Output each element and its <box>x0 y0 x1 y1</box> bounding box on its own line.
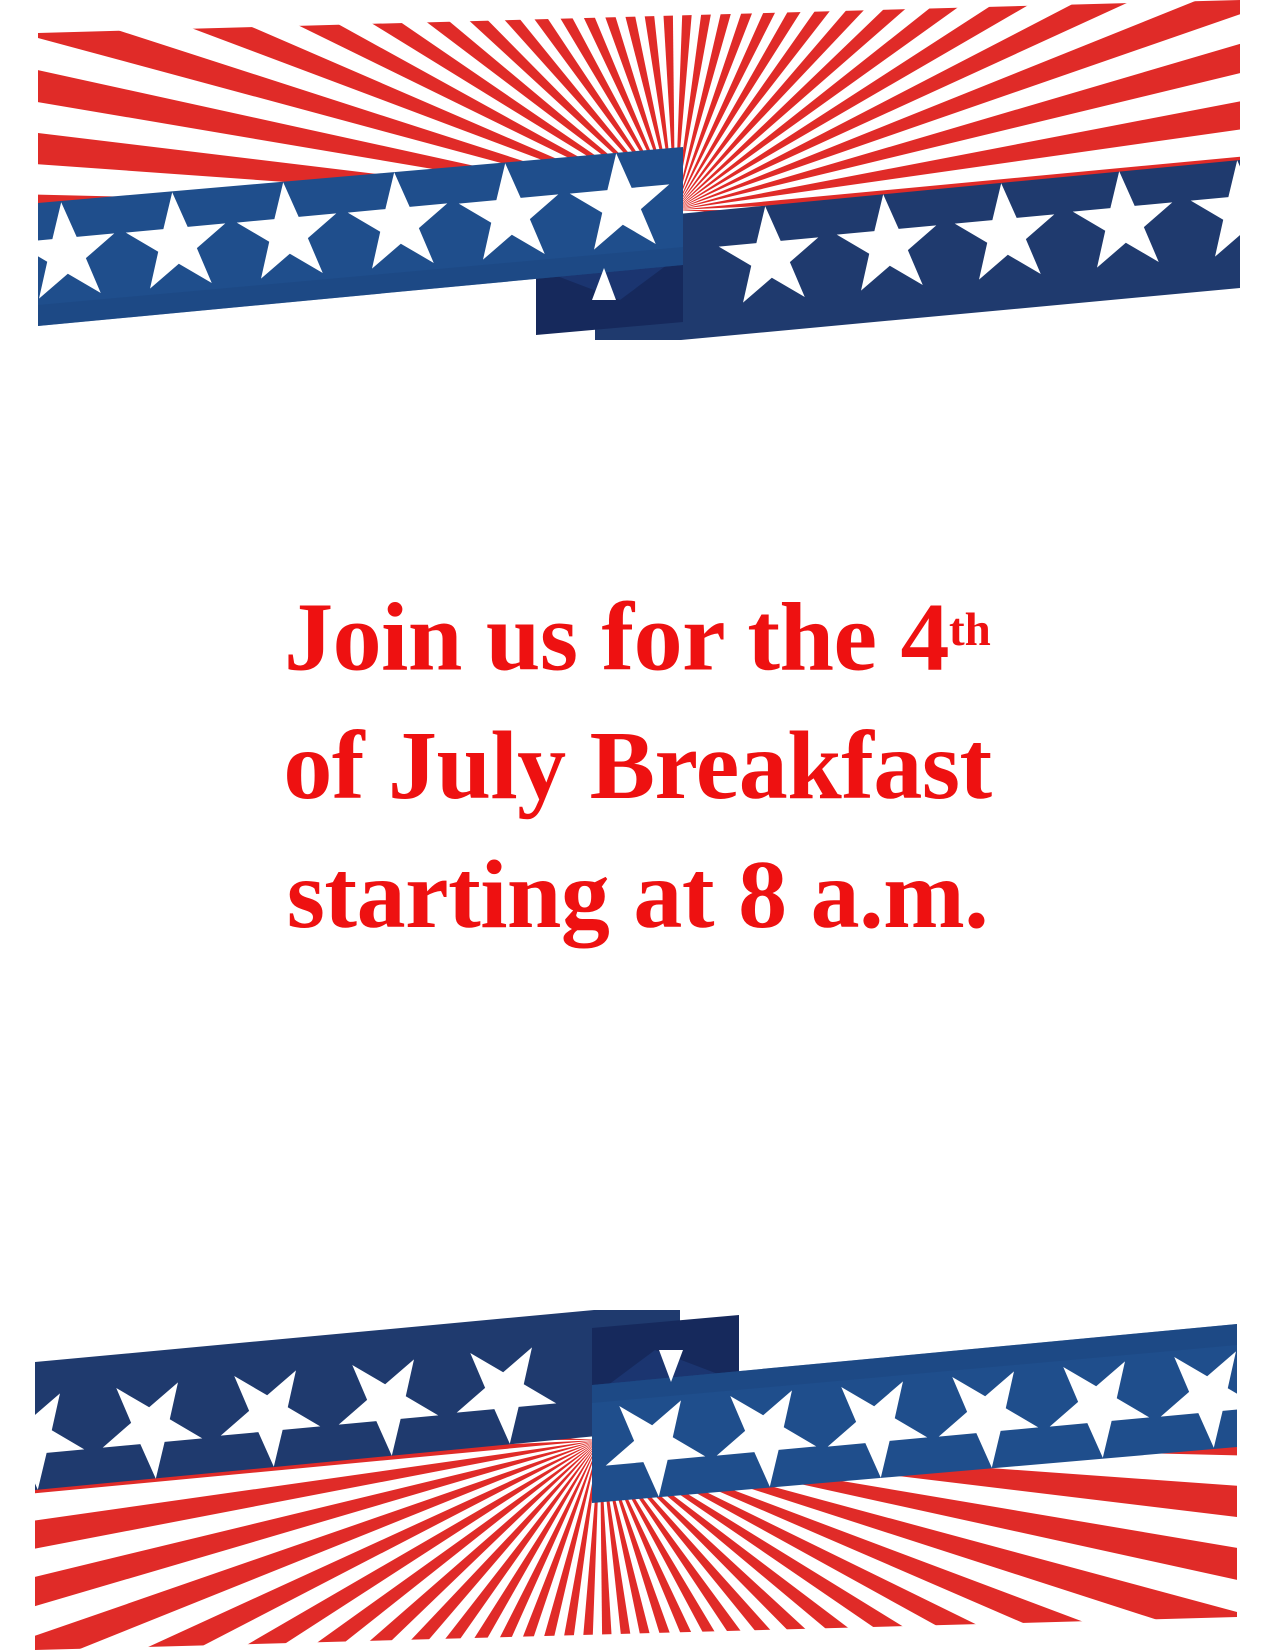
headline-line-1: Join us for the 4th <box>0 566 1275 702</box>
headline-line-1-text: Join us for the 4 <box>284 583 949 691</box>
headline-ordinal-suffix: th <box>949 604 991 656</box>
flyer-page: Join us for the 4th of July Breakfast st… <box>0 0 1275 1650</box>
top-patriotic-banner <box>0 0 1275 340</box>
bottom-patriotic-banner <box>0 1310 1275 1650</box>
top-banner-artwork <box>0 0 1275 340</box>
bottom-banner-artwork <box>0 1310 1275 1650</box>
headline-line-2: of July Breakfast <box>0 702 1275 831</box>
headline-block: Join us for the 4th of July Breakfast st… <box>0 566 1275 960</box>
headline-line-3: starting at 8 a.m. <box>0 831 1275 960</box>
